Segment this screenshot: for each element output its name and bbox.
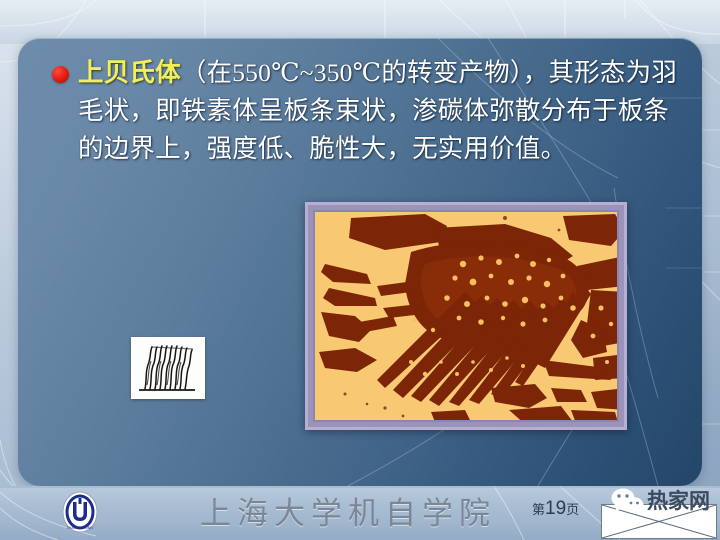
bullet-text-block: 上贝氏体（在550℃~350℃的转变产物），其形态为羽毛状，即铁素体呈板条束状，… xyxy=(52,54,682,168)
wechat-glyph xyxy=(609,487,647,517)
site-watermark: 热家网 xyxy=(601,487,717,539)
footer-university-title: 上海大学机自学院 xyxy=(200,492,496,536)
page-label-prefix: 第 xyxy=(532,502,545,517)
upper-bainite-micrograph xyxy=(313,210,619,422)
red-dot-bullet-icon xyxy=(52,66,69,83)
shanghai-university-emblem-icon: SHANGHAI UNIV xyxy=(60,490,100,534)
watermark-text: 热家网 xyxy=(647,488,710,515)
upper-bainite-lath-sketch xyxy=(131,337,205,399)
wechat-icon xyxy=(609,487,647,517)
highlighted-term: 上贝氏体 xyxy=(78,58,181,87)
micrograph-image xyxy=(315,212,619,422)
bullet-line-1-rest: （在550℃~350℃的转变产物），其形态 xyxy=(181,58,626,87)
page-indicator: 第19页 xyxy=(532,498,579,520)
svg-text:SHANGHAI UNIV: SHANGHAI UNIV xyxy=(67,526,94,530)
slide-canvas: 上贝氏体（在550℃~350℃的转变产物），其形态为羽毛状，即铁素体呈板条束状，… xyxy=(0,0,720,540)
lath-sketch-drawing xyxy=(131,337,205,399)
page-label-suffix: 页 xyxy=(566,502,579,517)
page-number: 19 xyxy=(545,498,566,519)
micrograph-frame xyxy=(305,202,627,430)
bullet-paragraph: 上贝氏体（在550℃~350℃的转变产物），其形态为羽毛状，即铁素体呈板条束状，… xyxy=(52,54,682,168)
emblem-drawing: SHANGHAI UNIV xyxy=(60,490,100,534)
